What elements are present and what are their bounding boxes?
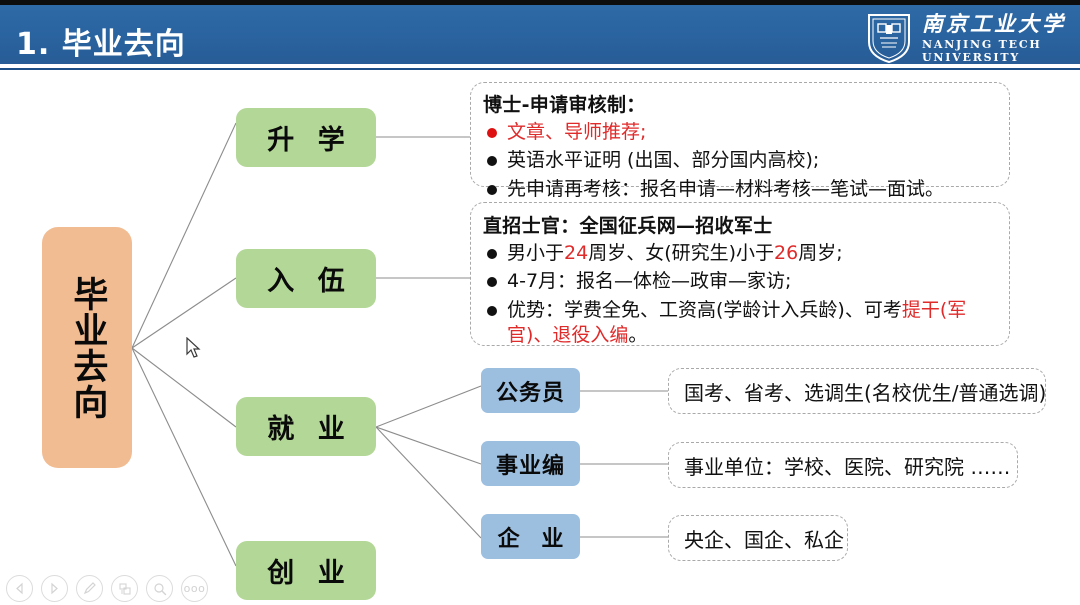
bullet-dot-icon bbox=[487, 185, 497, 195]
nanjing-tech-shield-crest-icon bbox=[866, 12, 912, 64]
list-item: 优势：学费全免、工资高(学龄计入兵龄)、可考提干(军官)、退役入编。 bbox=[483, 298, 997, 349]
header-divider bbox=[0, 68, 1080, 70]
prev-slide-button[interactable] bbox=[6, 575, 33, 602]
bullet-text: 英语水平证明 (出国、部分国内高校); bbox=[507, 148, 997, 173]
bullet-dot-icon bbox=[487, 249, 497, 259]
list-item: 先申请再考核：报名申请—材料考核—笔试—面试。 bbox=[483, 177, 997, 202]
logo-wordmark: 南京工业大学 NANJING TECH UNIVERSITY bbox=[922, 13, 1066, 63]
bullet-text: 先申请再考核：报名申请—材料考核—笔试—面试。 bbox=[507, 177, 997, 202]
node-label: 就 业 bbox=[260, 407, 351, 446]
ellipsis-icon: ooo bbox=[184, 583, 206, 594]
node-label: 企 业 bbox=[491, 521, 571, 553]
triangle-right-icon bbox=[48, 582, 61, 595]
page-title: 1. 毕业去向 bbox=[16, 19, 186, 63]
bullet-text: 文章、导师推荐; bbox=[507, 120, 997, 145]
bullet-text: 优势：学费全免、工资高(学龄计入兵龄)、可考提干(军官)、退役入编。 bbox=[507, 298, 997, 349]
logo-chinese-name: 南京工业大学 bbox=[922, 13, 1066, 34]
node-enterprise[interactable]: 企 业 bbox=[481, 514, 580, 559]
node-employment[interactable]: 就 业 bbox=[236, 397, 376, 456]
grid-icon bbox=[118, 582, 132, 596]
list-item: 文章、导师推荐; bbox=[483, 120, 997, 145]
node-civil-servant[interactable]: 公务员 bbox=[481, 368, 580, 413]
slideshow-toolbar[interactable]: ooo bbox=[6, 575, 208, 602]
next-slide-button[interactable] bbox=[41, 575, 68, 602]
bullet-dot-icon bbox=[487, 277, 497, 287]
detail-box-public-institution: 事业单位：学校、医院、研究院 …… bbox=[668, 442, 1018, 488]
university-logo: 南京工业大学 NANJING TECH UNIVERSITY bbox=[866, 11, 1066, 65]
mouse-pointer bbox=[186, 337, 203, 361]
bullet-dot-icon bbox=[487, 156, 497, 166]
logo-english-line1: NANJING TECH bbox=[922, 39, 1066, 50]
magnifier-icon bbox=[153, 582, 167, 596]
list-item: 4-7月：报名—体检—政审—家访; bbox=[483, 269, 997, 294]
detail-box-civil-servant: 国考、省考、选调生(名校优生/普通选调) bbox=[668, 368, 1046, 414]
highlight-age-male: 24 bbox=[564, 242, 588, 264]
bullet-dot-icon bbox=[487, 128, 497, 138]
node-entrepreneurship[interactable]: 创 业 bbox=[236, 541, 376, 600]
node-label: 入 伍 bbox=[260, 259, 351, 298]
detail-bullet-list: 文章、导师推荐; 英语水平证明 (出国、部分国内高校); 先申请再考核：报名申请… bbox=[483, 120, 997, 202]
detail-bullet-list: 男小于24周岁、女(研究生)小于26周岁; 4-7月：报名—体检—政审—家访; … bbox=[483, 241, 997, 348]
detail-heading: 博士-申请审核制： bbox=[483, 90, 997, 117]
list-item: 男小于24周岁、女(研究生)小于26周岁; bbox=[483, 241, 997, 266]
detail-box-doctorate: 博士-申请审核制： 文章、导师推荐; 英语水平证明 (出国、部分国内高校); 先… bbox=[470, 82, 1010, 187]
detail-heading: 直招士官：全国征兵网—招收军士 bbox=[483, 211, 997, 238]
list-item: 英语水平证明 (出国、部分国内高校); bbox=[483, 148, 997, 173]
highlight-age-female: 26 bbox=[774, 242, 798, 264]
node-military-enlistment[interactable]: 入 伍 bbox=[236, 249, 376, 308]
bullet-text: 4-7月：报名—体检—政审—家访; bbox=[507, 269, 997, 294]
pen-icon bbox=[82, 581, 97, 596]
bullet-dot-icon bbox=[487, 306, 497, 316]
node-public-institution[interactable]: 事业编 bbox=[481, 441, 580, 486]
more-options-button[interactable]: ooo bbox=[181, 575, 208, 602]
slide-header-bar: 1. 毕业去向 南京工业大学 NANJING TECH UNIVERSITY bbox=[0, 0, 1080, 64]
node-label: 事业编 bbox=[496, 448, 565, 480]
zoom-button[interactable] bbox=[146, 575, 173, 602]
node-root-label: 毕业去向 bbox=[66, 276, 109, 420]
detail-box-military: 直招士官：全国征兵网—招收军士 男小于24周岁、女(研究生)小于26周岁; 4-… bbox=[470, 202, 1010, 346]
detail-box-enterprise: 央企、国企、私企 bbox=[668, 515, 848, 561]
node-further-study[interactable]: 升 学 bbox=[236, 108, 376, 167]
slide-grid-button[interactable] bbox=[111, 575, 138, 602]
slide-canvas: 1. 毕业去向 南京工业大学 NANJING TECH UNIVERSITY bbox=[0, 0, 1080, 605]
triangle-left-icon bbox=[13, 582, 26, 595]
pen-annotate-button[interactable] bbox=[76, 575, 103, 602]
logo-english-line2: UNIVERSITY bbox=[922, 52, 1066, 63]
node-label: 公务员 bbox=[496, 375, 565, 407]
node-label: 创 业 bbox=[260, 551, 351, 590]
node-label: 升 学 bbox=[260, 118, 351, 157]
bullet-text: 男小于24周岁、女(研究生)小于26周岁; bbox=[507, 241, 997, 266]
node-graduation-destination[interactable]: 毕业去向 bbox=[42, 227, 132, 468]
